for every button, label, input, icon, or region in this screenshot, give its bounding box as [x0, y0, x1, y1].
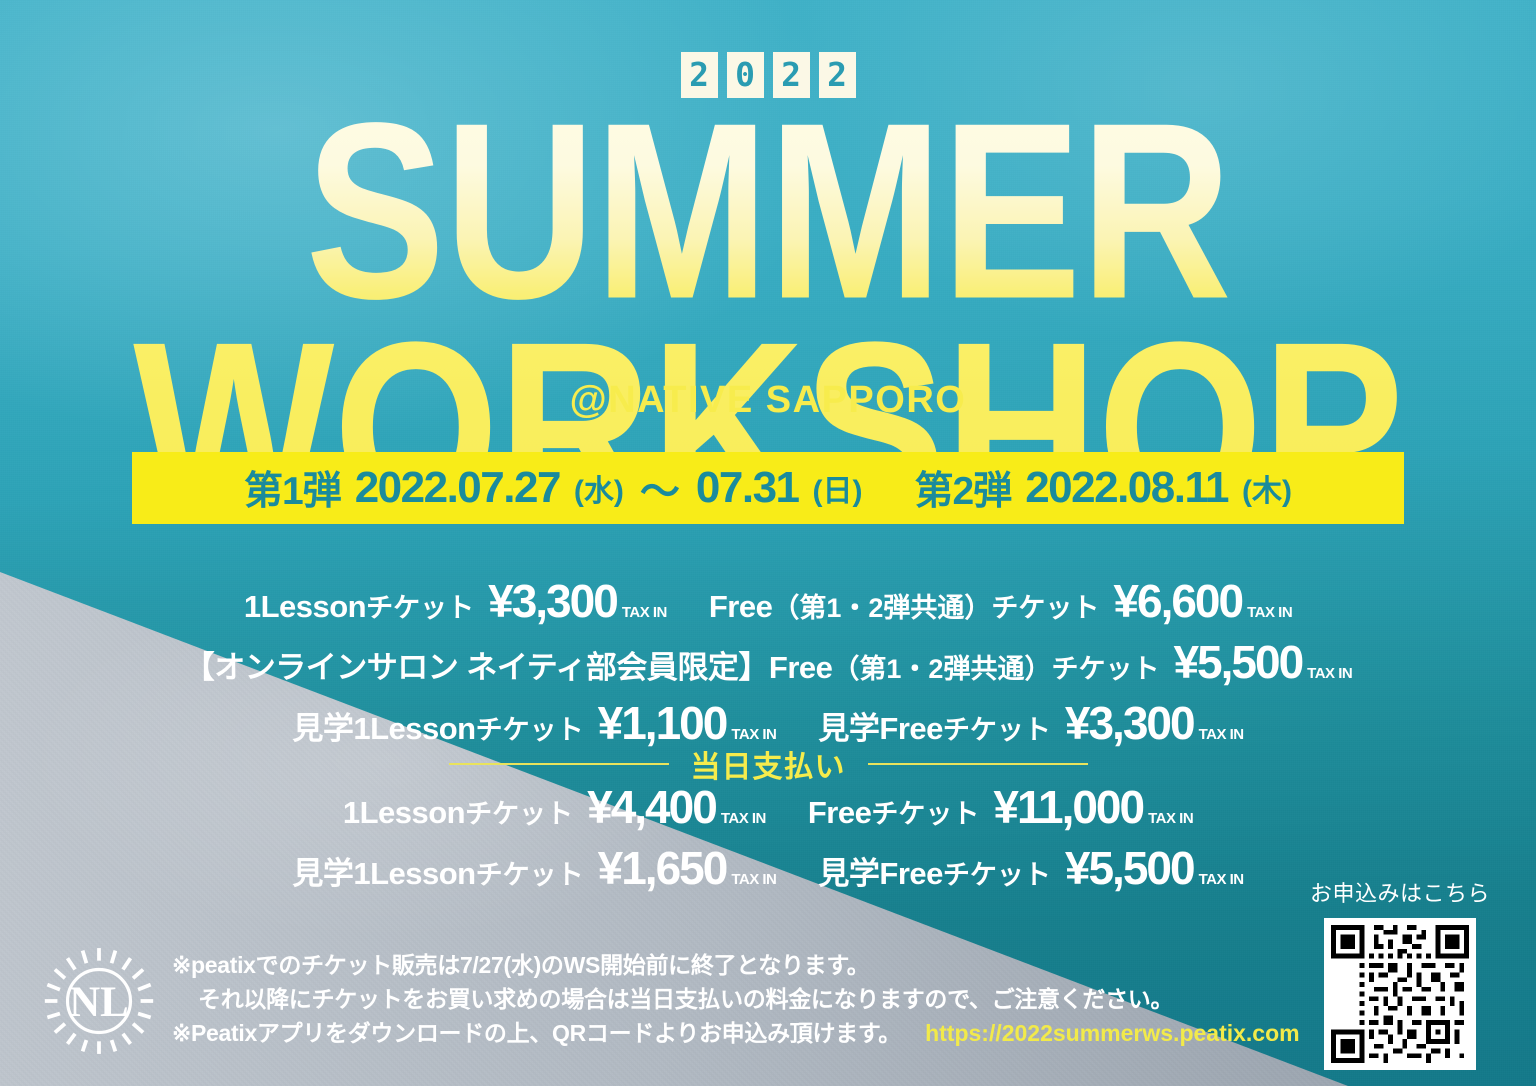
ticket-name: 【オンラインサロン ネイティ部会員限定】Free — [184, 652, 833, 683]
ticket-amount: ¥11,000 — [993, 784, 1143, 830]
ticket-name: 1Lesson — [244, 591, 366, 622]
date-banner: 第1弾 2022.07.27 (水) 〜 07.31 (日) 第2弾 2022.… — [132, 452, 1404, 524]
ticket-suffix: チケット — [366, 595, 474, 622]
price-row: 1Lesson チケット ¥3,300 TAX IN Free （第1・2弾共通… — [0, 578, 1536, 624]
tax-note: TAX IN — [1199, 727, 1244, 742]
price-row: 見学1Lesson チケット ¥1,100 TAX IN 見学Free チケット… — [0, 700, 1536, 746]
ticket-suffix: （第1・2弾共通）チケット — [772, 595, 1099, 622]
tax-note: TAX IN — [1199, 872, 1244, 887]
qr-block: お申込みはこちら — [1300, 876, 1500, 1070]
term1-end-dow: (日) — [813, 466, 863, 510]
same-day-label: 当日支払い — [691, 742, 846, 786]
ticket-amount: ¥1,650 — [598, 845, 727, 891]
note-line-1: ※peatixでのチケット販売は7/27(水)のWS開始前に終了となります。 — [172, 948, 1300, 982]
ticket-name: Free — [808, 797, 871, 828]
term2-label: 第2弾 — [915, 460, 1012, 516]
tax-note: TAX IN — [721, 811, 766, 826]
ticket-amount: ¥5,500 — [1065, 845, 1194, 891]
price-row: 【オンラインサロン ネイティ部会員限定】Free （第1・2弾共通）チケット ¥… — [0, 639, 1536, 685]
ticket-name: 見学1Lesson — [292, 858, 475, 889]
term2-dow: (木) — [1242, 466, 1292, 510]
svg-text:NL: NL — [69, 979, 129, 1026]
ticket-amount: ¥6,600 — [1113, 578, 1242, 624]
tax-note: TAX IN — [1148, 811, 1193, 826]
note-line-2-wrap: それ以降にチケットをお買い求めの場合は当日支払いの料金になりますので、ご注意くだ… — [172, 982, 1300, 1016]
tax-note: TAX IN — [731, 872, 776, 887]
date-range-mark: 〜 — [638, 459, 682, 517]
ticket-name: 見学Free — [818, 713, 942, 744]
poster: 2 0 2 2 SUMMER WORKSHOP @NATIVE SAPPORO … — [0, 0, 1536, 1086]
ticket-suffix: チケット — [465, 801, 573, 828]
ticket-suffix: チケット — [943, 862, 1051, 889]
qr-label: お申込みはこちら — [1300, 876, 1500, 908]
ticket-suffix: チケット — [943, 717, 1051, 744]
note-line-3-wrap: ※Peatixアプリをダウンロードの上、QRコードよりお申込み頂けます。 htt… — [172, 1016, 1300, 1050]
price-row: 1Lesson チケット ¥4,400 TAX IN Free チケット ¥11… — [0, 784, 1536, 830]
ticket-name: 1Lesson — [343, 797, 465, 828]
tax-note: TAX IN — [622, 605, 667, 620]
ticket-amount: ¥1,100 — [598, 700, 727, 746]
divider-rule-right — [868, 763, 1088, 765]
ticket-amount: ¥4,400 — [587, 784, 716, 830]
note-line-3: ※Peatixアプリをダウンロードの上、QRコードよりお申込み頂けます。 — [172, 1020, 901, 1046]
qr-code-icon[interactable] — [1324, 918, 1476, 1070]
term1-start-date: 2022.07.27 — [355, 463, 560, 513]
native-logo-icon: NL — [36, 938, 162, 1064]
ticket-name: 見学Free — [818, 858, 942, 889]
same-day-divider: 当日支払い — [0, 742, 1536, 786]
divider-rule-left — [449, 763, 669, 765]
ticket-amount: ¥5,500 — [1173, 639, 1302, 685]
ticket-name: 見学1Lesson — [292, 713, 475, 744]
ticket-name: Free — [709, 591, 772, 622]
tax-note: TAX IN — [1247, 605, 1292, 620]
ticket-suffix: チケット — [476, 717, 584, 744]
tax-note: TAX IN — [731, 727, 776, 742]
ticket-suffix: チケット — [476, 862, 584, 889]
ticket-amount: ¥3,300 — [488, 578, 617, 624]
term1-label: 第1弾 — [244, 460, 341, 516]
ticket-suffix: チケット — [871, 801, 979, 828]
term1-end-date: 07.31 — [696, 463, 799, 513]
tax-note: TAX IN — [1307, 666, 1352, 681]
peatix-url-link[interactable]: https://2022summerws.peatix.com — [925, 1020, 1300, 1046]
notes-block: ※peatixでのチケット販売は7/27(水)のWS開始前に終了となります。 そ… — [172, 948, 1300, 1050]
venue-label: @NATIVE SAPPORO — [0, 379, 1536, 422]
ticket-amount: ¥3,300 — [1065, 700, 1194, 746]
term2-date: 2022.08.11 — [1025, 463, 1228, 513]
note-line-2: それ以降にチケットをお買い求めの場合は当日支払いの料金になりますので、ご注意くだ… — [172, 982, 1173, 1016]
advance-price-list: 1Lesson チケット ¥3,300 TAX IN Free （第1・2弾共通… — [0, 578, 1536, 761]
term1-start-dow: (水) — [574, 466, 624, 510]
ticket-suffix: （第1・2弾共通）チケット — [832, 656, 1159, 683]
